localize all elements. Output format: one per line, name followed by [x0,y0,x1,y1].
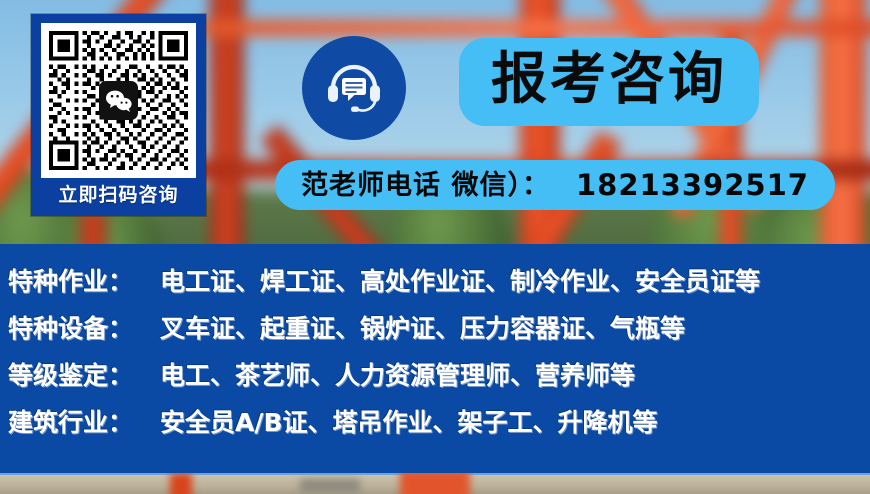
certification-list-panel: 特种作业： 电工证、焊工证、高处作业证、制冷作业、安全员证等 特种设备： 叉车证… [0,244,870,473]
list-item: 建筑行业： 安全员A/B证、塔吊作业、架子工、升降机等 [8,403,870,450]
list-items-label: 叉车证、起重证、锅炉证、压力容器证、气瓶等 [160,309,685,345]
strip-crane-beam [300,479,360,493]
list-item: 特种设备： 叉车证、起重证、锅炉证、压力容器证、气瓶等 [8,309,870,356]
qr-code-white-field [41,23,196,178]
list-category-label: 建筑行业： [8,403,160,439]
list-items-label: 安全员A/B证、塔吊作业、架子工、升降机等 [160,403,658,439]
title-badge-label: 报考咨询 [491,52,727,112]
contact-phone-pill[interactable]: 范老师电话 微信）： 18213392517 [275,160,835,210]
headset-support-icon [323,58,385,118]
customer-service-badge[interactable] [302,36,406,140]
contact-phone-number[interactable]: 18213392517 [576,171,809,200]
bottom-photo-strip [0,473,870,494]
crane-beam [200,20,870,36]
list-item: 等级鉴定： 电工、茶艺师、人力资源管理师、营养师等 [8,356,870,403]
wechat-icon [99,81,138,120]
list-item: 特种作业： 电工证、焊工证、高处作业证、制冷作业、安全员证等 [8,262,870,309]
title-badge[interactable]: 报考咨询 [459,38,759,126]
list-category-label: 等级鉴定： [8,356,160,392]
list-category-label: 特种设备： [8,309,160,345]
strip-crane-beam [400,473,470,494]
strip-blur-layer [0,473,870,494]
contact-label: 范老师电话 微信）： [301,172,550,199]
list-category-label: 特种作业： [8,262,160,298]
strip-crane-beam [170,473,192,494]
qr-code-card[interactable]: 立即扫码咨询 [31,14,206,216]
list-items-label: 电工证、焊工证、高处作业证、制冷作业、安全员证等 [160,262,760,298]
list-items-label: 电工、茶艺师、人力资源管理师、营养师等 [160,356,635,392]
promo-poster: 立即扫码咨询 报考咨询 范老师电话 微信）： 18213392517 [0,0,870,494]
qr-caption-label: 立即扫码咨询 [34,180,203,210]
